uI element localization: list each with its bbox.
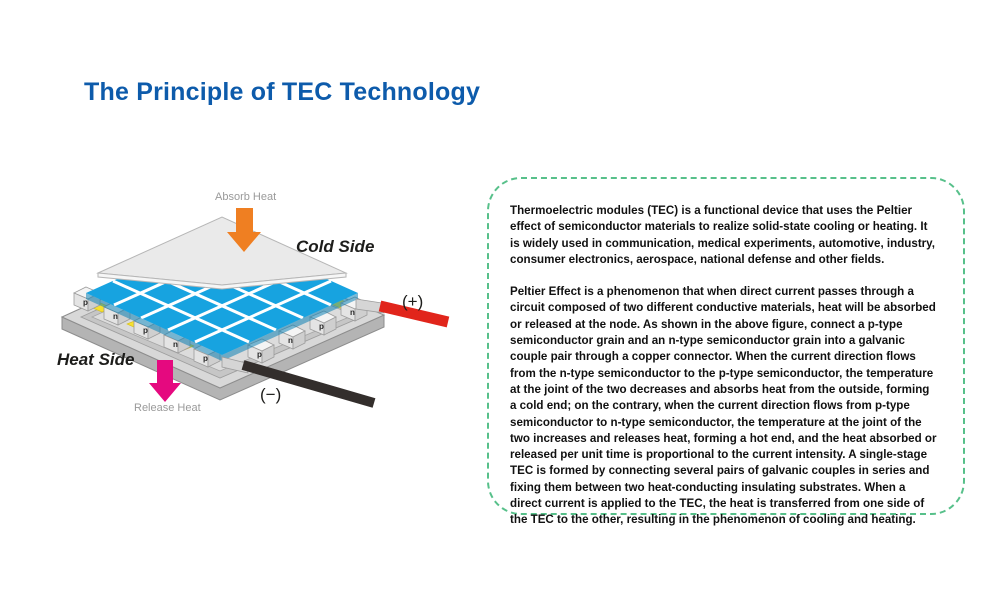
info-panel: Thermoelectric modules (TEC) is a functi… bbox=[487, 177, 965, 515]
block-label: n bbox=[173, 340, 178, 349]
block-label: p bbox=[319, 322, 324, 331]
block-label: p bbox=[143, 326, 148, 335]
absorb-heat-label: Absorb Heat bbox=[215, 191, 276, 203]
block-label: p bbox=[257, 350, 262, 359]
block-label: p bbox=[203, 354, 208, 363]
block-label: n bbox=[288, 336, 293, 345]
page-title: The Principle of TEC Technology bbox=[84, 78, 480, 107]
release-heat-label: Release Heat bbox=[134, 402, 201, 414]
info-panel-body: Thermoelectric modules (TEC) is a functi… bbox=[489, 179, 963, 529]
info-paragraph-1: Thermoelectric modules (TEC) is a functi… bbox=[510, 203, 937, 268]
positive-terminal-label: (+) bbox=[402, 292, 423, 312]
info-paragraph-2: Peltier Effect is a phenomenon that when… bbox=[510, 284, 937, 528]
cold-side-label: Cold Side bbox=[296, 237, 374, 257]
heat-side-label: Heat Side bbox=[57, 350, 134, 370]
block-label: n bbox=[350, 308, 355, 317]
negative-terminal-label: (−) bbox=[260, 385, 281, 405]
block-label: n bbox=[113, 312, 118, 321]
